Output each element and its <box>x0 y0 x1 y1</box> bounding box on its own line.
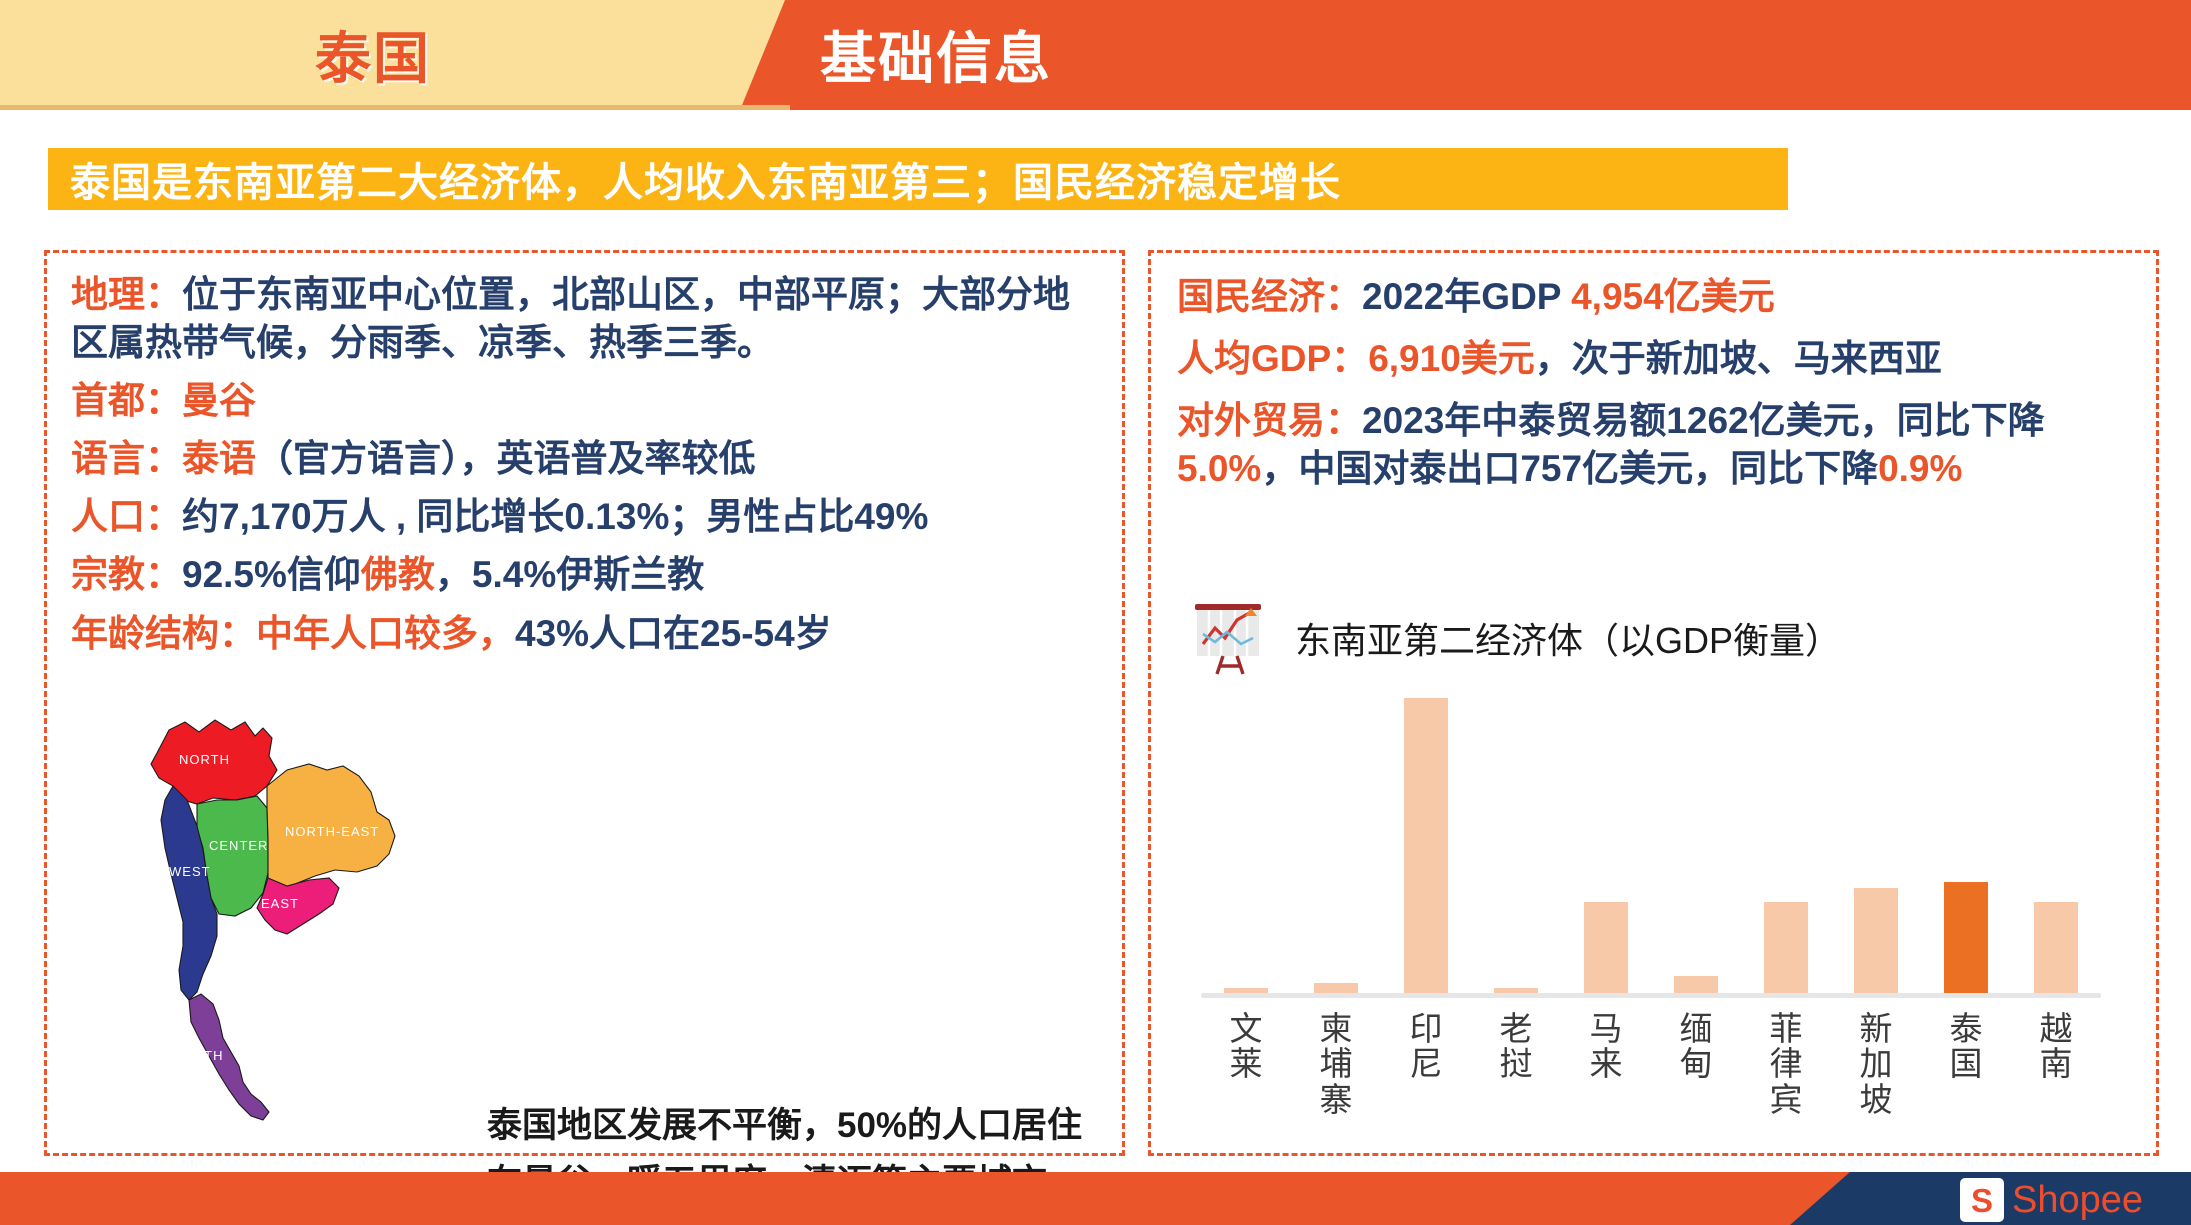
chart-bar-slot <box>1651 693 1741 993</box>
chart-bar <box>1584 902 1628 993</box>
chart-x-label: 柬埔寨 <box>1291 1011 1381 1117</box>
chart-x-label: 马来 <box>1561 1011 1651 1117</box>
fact-foreign-trade-highlight-b: 0.9% <box>1878 448 1962 489</box>
thailand-region-map: NORTH CENTER NORTH-EAST WEST EAST SOUTH <box>127 708 457 1128</box>
slide-footer: S Shopee <box>0 1172 2191 1225</box>
map-label-center: CENTER <box>209 838 268 853</box>
chart-title: 东南亚第二经济体（以GDP衡量） <box>1295 612 1841 664</box>
fact-religion-value-a: 92.5%信仰 <box>182 554 361 595</box>
slide-header: 泰国 基础信息 <box>0 0 2191 110</box>
headline-banner: 泰国是东南亚第二大经济体，人均收入东南亚第三；国民经济稳定增长 <box>48 148 1788 210</box>
chart-x-label: 印尼 <box>1381 1011 1471 1117</box>
fact-foreign-trade-value-b: ，中国对泰出口757亿美元，同比下降 <box>1261 448 1878 489</box>
chart-bar-slot <box>1741 693 1831 993</box>
fact-capital-value: 曼谷 <box>182 380 256 421</box>
chart-bar-slot <box>1471 693 1561 993</box>
fact-foreign-trade-highlight-a: 5.0% <box>1177 448 1261 489</box>
chart-x-axis-line <box>1201 993 2101 998</box>
fact-gdp-per-capita-highlight: 6,910美元 <box>1368 338 1535 379</box>
fact-language-highlight: 泰语 <box>182 438 256 479</box>
chart-bar <box>1314 983 1358 993</box>
gdp-bar-chart: 文莱柬埔寨印尼老挝马来缅甸菲律宾新加坡泰国越南 <box>1191 693 2111 1113</box>
thailand-map-svg: NORTH CENTER NORTH-EAST WEST EAST SOUTH <box>127 708 457 1128</box>
fact-foreign-trade-label: 对外贸易： <box>1177 400 1362 441</box>
fact-geography: 地理：位于东南亚中心位置，北部山区，中部平原；大部分地区属热带气候，分雨季、凉季… <box>71 271 1101 367</box>
fact-language-label: 语言： <box>71 438 182 479</box>
fact-gdp-per-capita-label: 人均GDP： <box>1177 338 1368 379</box>
chart-x-label: 文莱 <box>1201 1011 1291 1117</box>
chart-bar-slot <box>1561 693 1651 993</box>
chart-bar <box>2034 902 2078 993</box>
fact-geography-label: 地理： <box>71 274 182 315</box>
chart-plot-area: 文莱柬埔寨印尼老挝马来缅甸菲律宾新加坡泰国越南 <box>1201 693 2101 993</box>
fact-religion-label: 宗教： <box>71 554 182 595</box>
fact-foreign-trade: 对外贸易：2023年中泰贸易额1262亿美元，同比下降5.0%，中国对泰出口75… <box>1177 397 2142 493</box>
headline-banner-text: 泰国是东南亚第二大经济体，人均收入东南亚第三；国民经济稳定增长 <box>48 150 1341 208</box>
chart-bar <box>1764 902 1808 993</box>
fact-age-structure-label: 年龄结构：中年人口较多， <box>71 613 515 654</box>
chart-x-axis-labels: 文莱柬埔寨印尼老挝马来缅甸菲律宾新加坡泰国越南 <box>1201 1011 2101 1117</box>
fact-capital: 首都：曼谷 <box>71 377 1101 425</box>
country-facts-list: 地理：位于东南亚中心位置，北部山区，中部平原；大部分地区属热带气候，分雨季、凉季… <box>71 271 1101 668</box>
fact-population: 人口：约7,170万人 , 同比增长0.13%；男性占比49% <box>71 493 1101 541</box>
fact-population-label: 人口： <box>71 496 182 537</box>
header-underline <box>0 105 790 110</box>
chart-bar <box>1944 882 1988 993</box>
map-label-northeast: NORTH-EAST <box>285 824 379 839</box>
header-country-title: 泰国 <box>315 14 431 95</box>
chart-x-label: 越南 <box>2011 1011 2101 1117</box>
chart-bar-slot <box>2011 693 2101 993</box>
fact-national-economy: 国民经济：2022年GDP 4,954亿美元 <box>1177 273 2142 321</box>
shopee-brand-mark: S <box>1971 1184 1993 1217</box>
chart-x-label: 泰国 <box>1921 1011 2011 1117</box>
fact-national-economy-label: 国民经济： <box>1177 276 1362 317</box>
economy-facts-list: 国民经济：2022年GDP 4,954亿美元 人均GDP：6,910美元，次于新… <box>1177 273 2142 507</box>
slide-root: 泰国 基础信息 泰国是东南亚第二大经济体，人均收入东南亚第三；国民经济稳定增长 … <box>0 0 2191 1225</box>
chart-bar-slot <box>1831 693 1921 993</box>
chart-x-label: 老挝 <box>1471 1011 1561 1117</box>
chart-bar <box>1404 698 1448 993</box>
fact-age-structure: 年龄结构：中年人口较多，43%人口在25-54岁 <box>71 610 1101 658</box>
fact-religion-value-b: ，5.4%伊斯兰教 <box>435 554 704 595</box>
shopping-bag-icon: S <box>1960 1178 2004 1222</box>
fact-language: 语言：泰语（官方语言），英语普及率较低 <box>71 435 1101 483</box>
fact-age-structure-value: 43%人口在25-54岁 <box>515 613 832 654</box>
chart-x-label: 缅甸 <box>1651 1011 1741 1117</box>
chart-x-label: 菲律宾 <box>1741 1011 1831 1117</box>
map-label-south: SOUTH <box>173 1048 224 1063</box>
fact-foreign-trade-value-a: 2023年中泰贸易额1262亿美元，同比下降 <box>1362 400 2045 441</box>
map-label-west: WEST <box>169 864 211 879</box>
shopee-logo: S Shopee <box>1960 1178 2143 1222</box>
map-label-north: NORTH <box>179 752 230 767</box>
chart-x-label: 新加坡 <box>1831 1011 1921 1117</box>
fact-population-value: 约7,170万人 , 同比增长0.13%；男性占比49% <box>182 496 928 537</box>
chart-bar <box>1674 976 1718 993</box>
chart-bars <box>1201 693 2101 993</box>
fact-geography-value: 位于东南亚中心位置，北部山区，中部平原；大部分地区属热带气候，分雨季、凉季、热季… <box>71 274 1070 363</box>
left-info-panel: 地理：位于东南亚中心位置，北部山区，中部平原；大部分地区属热带气候，分雨季、凉季… <box>44 250 1125 1156</box>
header-section-title: 基础信息 <box>820 14 1052 95</box>
chart-bar <box>1854 888 1898 993</box>
fact-national-economy-highlight: 4,954亿美元 <box>1571 276 1775 317</box>
fact-religion: 宗教：92.5%信仰佛教，5.4%伊斯兰教 <box>71 551 1101 599</box>
presentation-chart-icon <box>1191 598 1269 678</box>
fact-national-economy-value: 2022年GDP <box>1362 276 1571 317</box>
chart-bar-slot <box>1201 693 1291 993</box>
fact-gdp-per-capita: 人均GDP：6,910美元，次于新加坡、马来西亚 <box>1177 335 2142 383</box>
chart-bar-slot <box>1921 693 2011 993</box>
fact-capital-label: 首都： <box>71 380 182 421</box>
shopee-brand-word: Shopee <box>2012 1179 2143 1222</box>
fact-language-value: （官方语言），英语普及率较低 <box>256 438 756 479</box>
map-label-east: EAST <box>261 896 299 911</box>
chart-bar-slot <box>1381 693 1471 993</box>
fact-gdp-per-capita-value: ，次于新加坡、马来西亚 <box>1535 338 1942 379</box>
chart-bar-slot <box>1291 693 1381 993</box>
fact-religion-highlight: 佛教 <box>361 554 435 595</box>
right-economy-panel: 国民经济：2022年GDP 4,954亿美元 人均GDP：6,910美元，次于新… <box>1148 250 2159 1156</box>
chart-header: 东南亚第二经济体（以GDP衡量） <box>1191 598 1841 678</box>
